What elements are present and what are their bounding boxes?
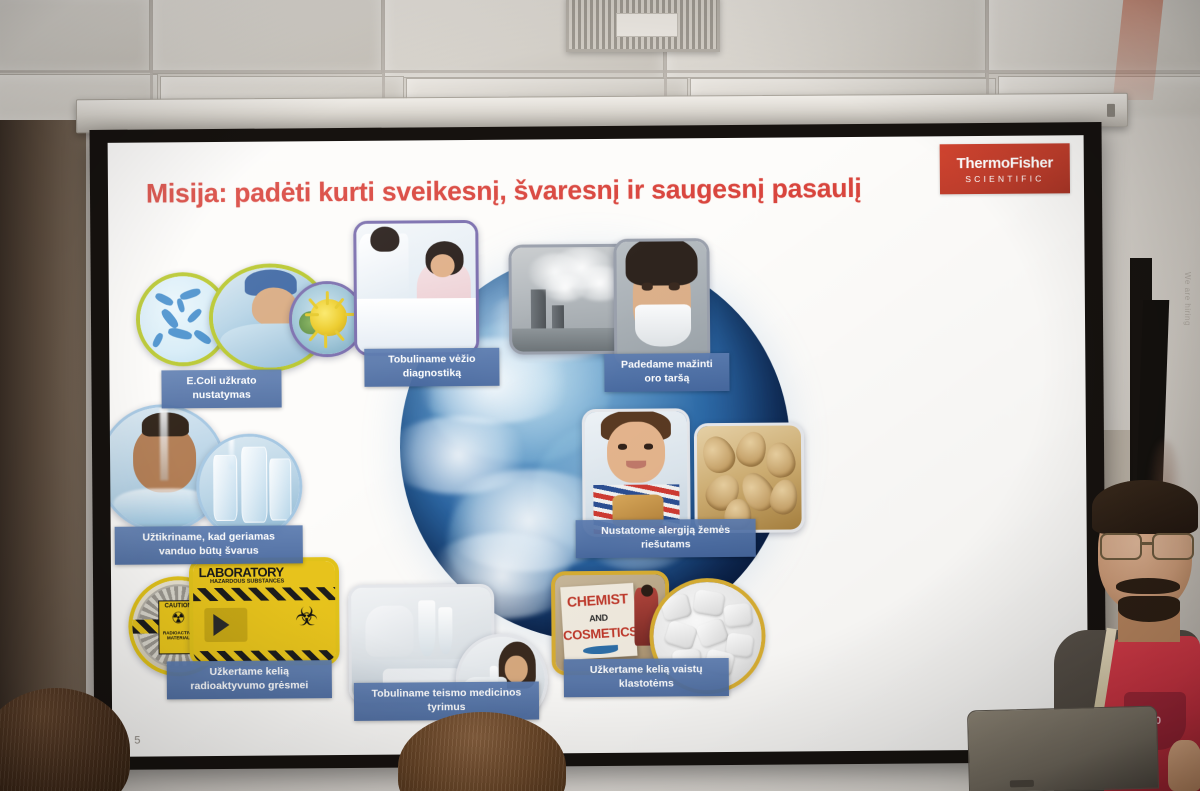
callout-counterfeit-drugs: Užkertame kelią vaistų klastotėms — [564, 658, 729, 697]
laptop — [967, 706, 1159, 791]
slide-title: Misija: padėti kurti sveikesnį, švaresnį… — [146, 173, 862, 210]
card-boy-with-mask — [613, 238, 710, 367]
callout-water: Užtikriname, kad geriamas vanduo būtų šv… — [115, 525, 303, 564]
speaker-moustache — [1116, 578, 1180, 594]
speaker-hand — [1168, 740, 1200, 791]
card-water-bottles — [196, 433, 303, 540]
speaker-beard — [1118, 596, 1180, 622]
logo-brand: ThermoFisher — [957, 154, 1054, 172]
thermofisher-logo: ThermoFisher SCIENTIFIC — [940, 143, 1070, 194]
projection-screen: Misija: padėti kurti sveikesnį, švaresnį… — [90, 122, 1107, 770]
slide-number: 5 — [134, 735, 140, 747]
wall-sign-text: We are hiring — [1183, 272, 1192, 326]
conference-room-photo: We are hiring Misija: padėti kurti sveik… — [0, 0, 1200, 791]
speaker-glasses — [1096, 533, 1200, 561]
logo-tagline: SCIENTIFIC — [965, 173, 1044, 184]
callout-radiation: Užkertame kelią radioaktyvumo grėsmei — [167, 660, 332, 699]
left-wall-edge — [0, 96, 86, 791]
ceiling-air-vent — [566, 0, 720, 52]
card-lab-hazard-sign: LABORATORY HAZARDOUS SUBSTANCES ☣ — [189, 557, 340, 666]
speaker-hair — [1092, 480, 1198, 534]
callout-air-pollution: Padedame mažinti oro taršą — [604, 353, 729, 392]
callout-cancer: Tobuliname vėžio diagnostiką — [364, 348, 499, 387]
callout-ecoli: E.Coli užkrato nustatymas — [161, 369, 281, 408]
presentation-slide: Misija: padėti kurti sveikesnį, švaresnį… — [108, 135, 1089, 757]
callout-peanut-allergy: Nustatome alergiją žemės riešutams — [576, 519, 756, 558]
card-cancer-diagnostics — [353, 220, 479, 356]
card-boy-with-bread — [582, 408, 691, 537]
card-peanuts — [694, 422, 805, 533]
